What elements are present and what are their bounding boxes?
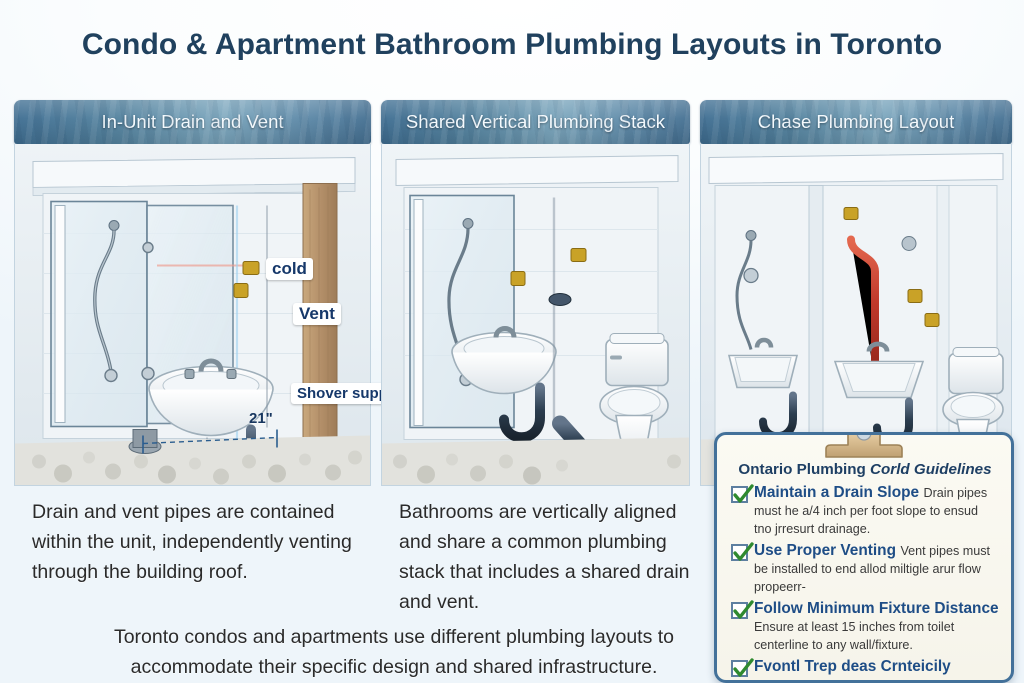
caption-panel-2: Bathrooms are vertically aligned and sha… [399,497,699,617]
checklist-item[interactable]: Follow Minimum Fixture Distance Ensure a… [731,600,999,654]
panel-header-3-label: Chase Plumbing Layout [758,111,954,133]
panel-shared-vertical-plumbing-stack: Shared Vertical Plumbing Stack [381,100,690,486]
panel-header-3: Chase Plumbing Layout [700,100,1012,144]
clipboard-clip-icon [816,432,912,459]
label-cold: cold [266,258,313,280]
panel-header-2-label: Shared Vertical Plumbing Stack [406,111,665,133]
checklist-title-italic: Corld Guidelines [870,461,992,478]
checklist-item-heading: Maintain a Drain Slope [754,484,919,501]
label-vent: Vent [293,303,341,325]
shared-stack-drawing [382,144,689,485]
panel-header-1-label: In-Unit Drain and Vent [101,111,283,133]
panel-in-unit-drain-and-vent: In-Unit Drain and Vent [14,100,371,486]
checklist-item-heading: Fvontl Trep deas Crnteicily [754,658,951,675]
checkmark-icon[interactable] [731,544,748,561]
checklist-item-sub: Ensure at least 15 inches from toilet ce… [754,620,954,652]
checklist-item-heading: Use Proper Venting [754,542,896,559]
panel-header-1: In-Unit Drain and Vent [14,100,371,144]
checklist-title: Ontario Plumbing Corld Guidelines [731,461,999,478]
caption-panel-1: Drain and vent pipes are contained withi… [32,497,377,587]
checkmark-icon[interactable] [731,602,748,619]
ontario-plumbing-code-checklist: Ontario Plumbing Corld Guidelines Mainta… [714,432,1014,683]
checklist-item[interactable]: Use Proper Venting Vent pipes must be in… [731,542,999,596]
footer-summary: Toronto condos and apartments use differ… [74,622,714,682]
panel-header-2: Shared Vertical Plumbing Stack [381,100,690,144]
panel-chase-plumbing-layout: Chase Plumbing Layout [700,100,1012,486]
checklist-item-body: Fvontl Trep deas Crnteicily [754,658,999,677]
checklist-item-body: Maintain a Drain Slope Drain pipes must … [754,484,999,538]
checklist-item[interactable]: Maintain a Drain Slope Drain pipes must … [731,484,999,538]
checklist-item-body: Use Proper Venting Vent pipes must be in… [754,542,999,596]
checkmark-icon[interactable] [731,660,748,677]
checklist-item-body: Follow Minimum Fixture Distance Ensure a… [754,600,999,654]
checklist-item[interactable]: Fvontl Trep deas Crnteicily [731,658,999,677]
infographic-canvas: Condo & Apartment Bathroom Plumbing Layo… [0,0,1024,683]
checklist-item-heading: Follow Minimum Fixture Distance [754,600,999,617]
page-title: Condo & Apartment Bathroom Plumbing Layo… [0,28,1024,62]
checkmark-icon[interactable] [731,486,748,503]
label-dimension-21in: 21" [249,410,273,427]
checklist-title-normal: Ontario Plumbing [738,461,870,478]
panel-illustration-2 [381,144,690,486]
